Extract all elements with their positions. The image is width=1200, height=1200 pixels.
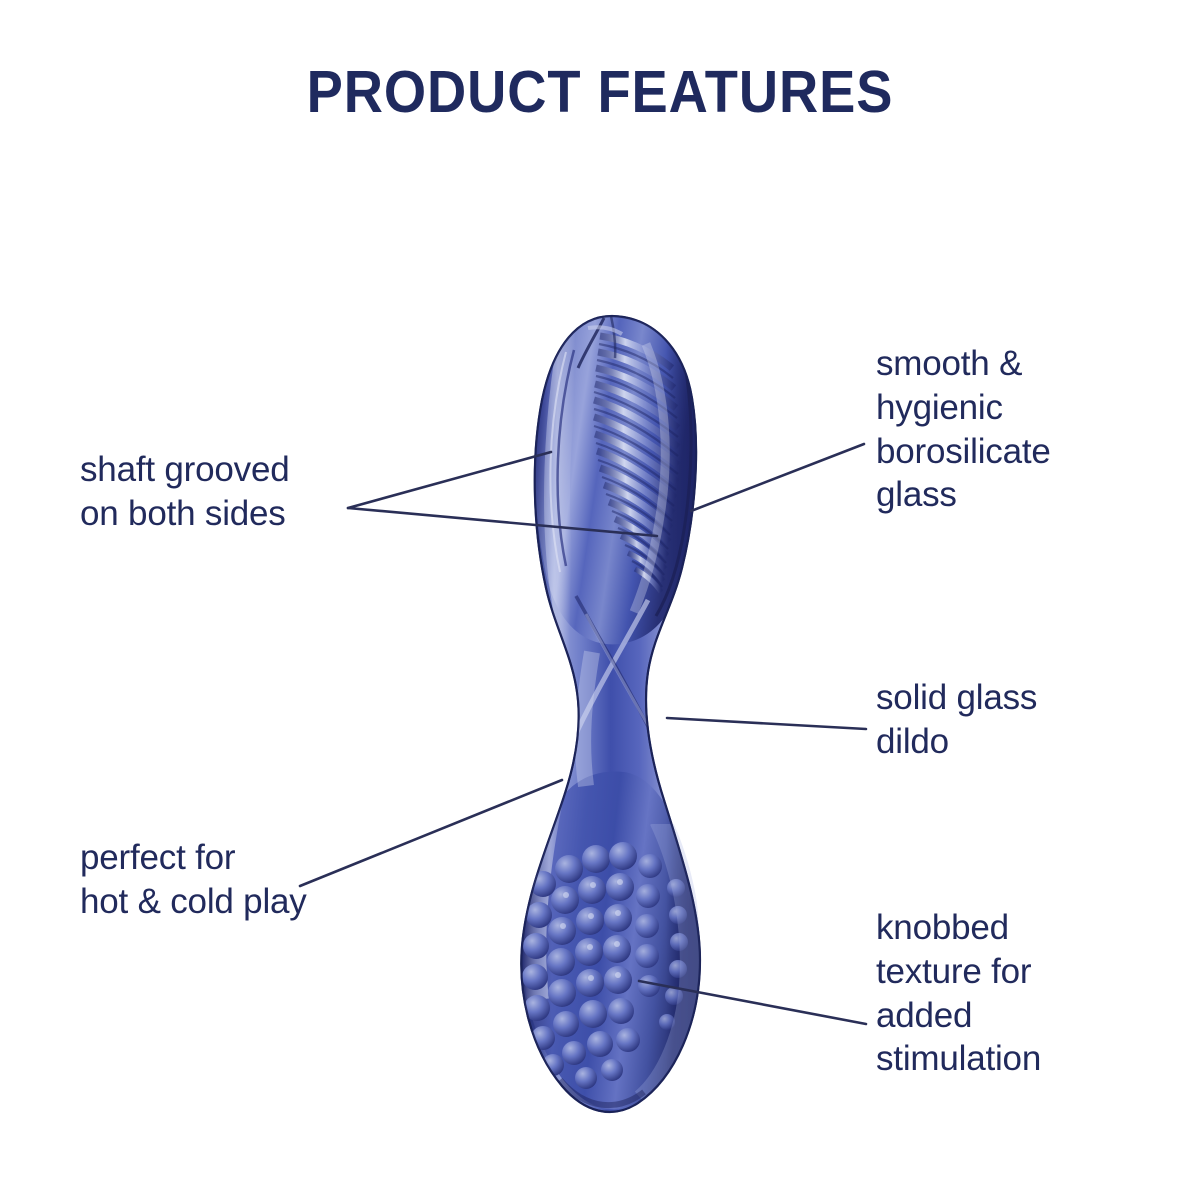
callout-solid-glass: solid glass dildo [876, 676, 1126, 764]
callout-hot-cold-play: perfect for hot & cold play [80, 836, 420, 924]
product-features-infographic: PRODUCT FEATURES [0, 0, 1200, 1200]
glass-dildo-illustration [518, 300, 704, 1120]
leader-smooth-hygienic [691, 444, 864, 511]
callout-smooth-hygienic: smooth & hygienic borosilicate glass [876, 342, 1126, 517]
callout-knobbed-texture: knobbed texture for added stimulation [876, 906, 1136, 1081]
callout-shaft-grooved: shaft grooved on both sides [80, 448, 400, 536]
leader-solid-glass [667, 718, 866, 729]
